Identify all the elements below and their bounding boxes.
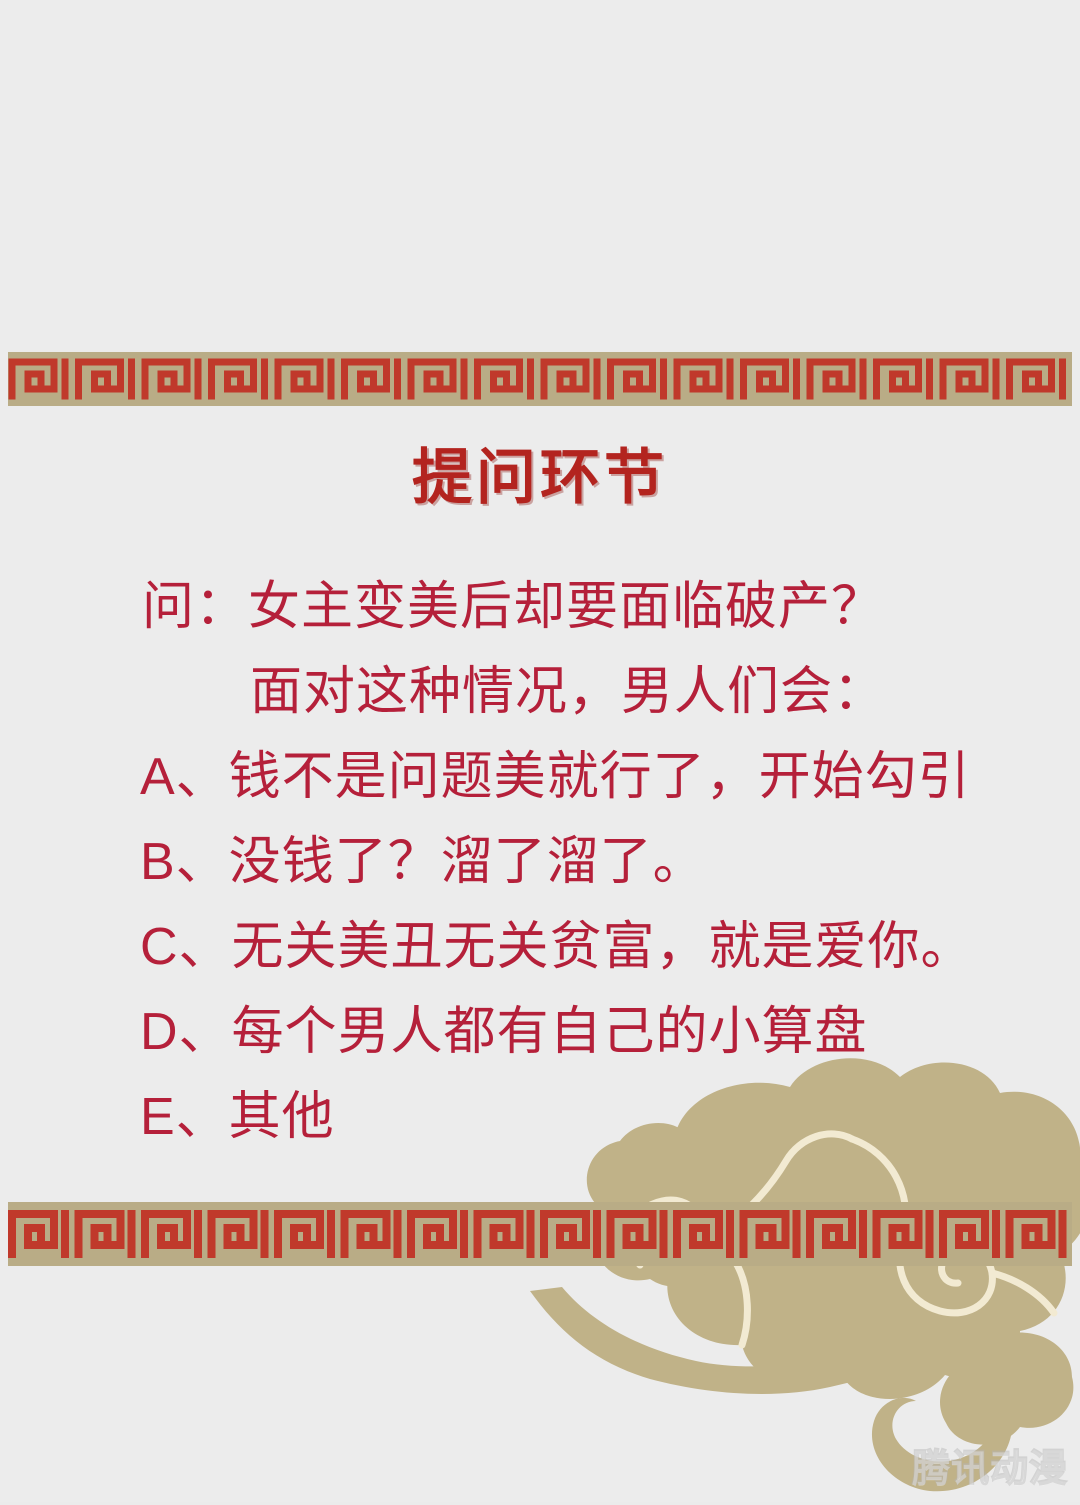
watermark: 腾讯动漫 bbox=[912, 1450, 1068, 1488]
question-block: 问：女主变美后却要面临破产？ 面对这种情况，男人们会： A、钱不是问题美就行了，… bbox=[0, 565, 1080, 1160]
option-a: A、钱不是问题美就行了，开始勾引 bbox=[0, 735, 1080, 820]
page-title: 提问环节 bbox=[0, 448, 1080, 508]
option-b: B、没钱了？溜了溜了。 bbox=[0, 820, 1080, 905]
meander-border-top bbox=[8, 352, 1072, 406]
meander-border-bottom bbox=[8, 1202, 1072, 1266]
question-line-2: 面对这种情况，男人们会： bbox=[0, 650, 1080, 735]
question-line-1: 问：女主变美后却要面临破产？ bbox=[0, 565, 1080, 650]
option-c: C、无关美丑无关贫富，就是爱你。 bbox=[0, 905, 1080, 990]
option-e: E、其他 bbox=[0, 1075, 1080, 1160]
option-d: D、每个男人都有自己的小算盘 bbox=[0, 990, 1080, 1075]
comic-panel: 提问环节 问：女主变美后却要面临破产？ 面对这种情况，男人们会： A、钱不是问题… bbox=[0, 0, 1080, 1502]
